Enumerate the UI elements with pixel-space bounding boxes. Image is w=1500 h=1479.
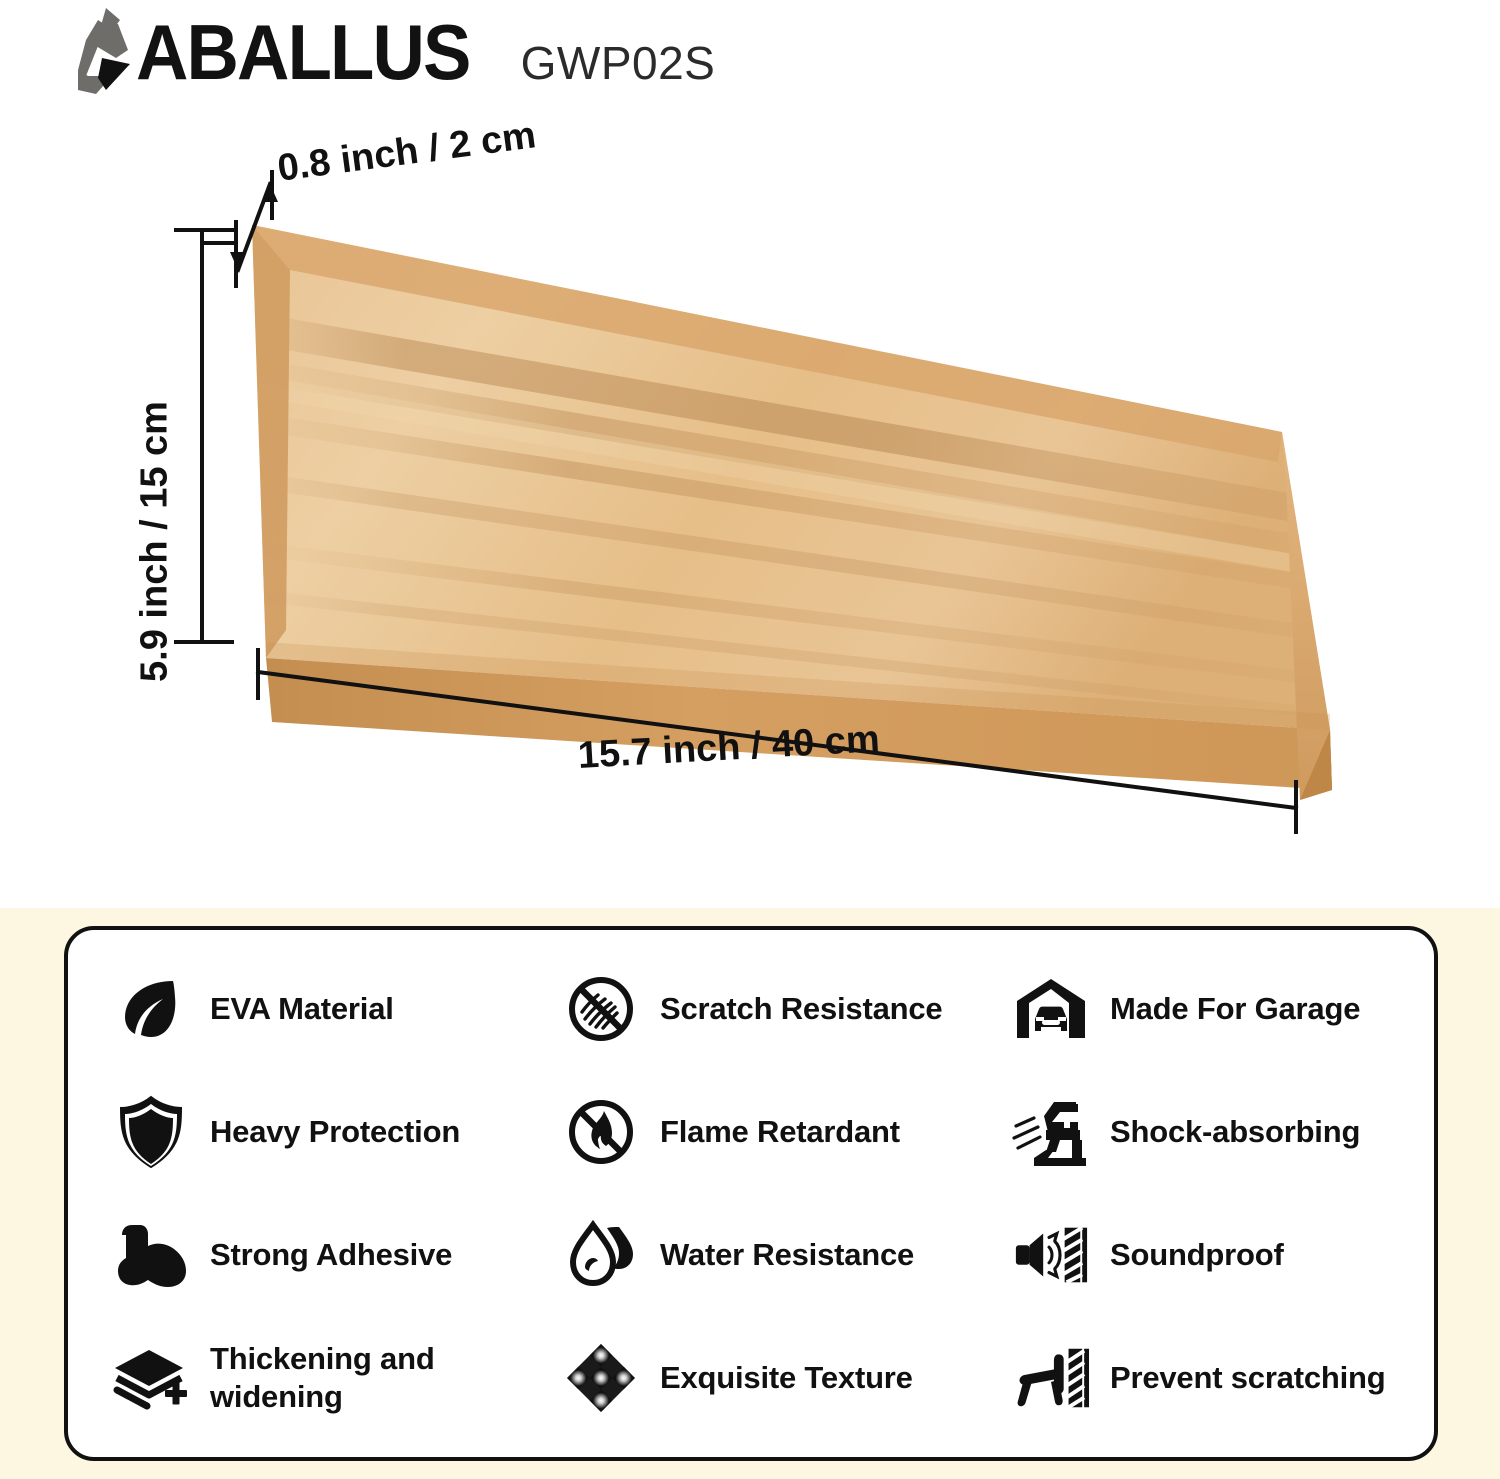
leaf-icon xyxy=(112,970,190,1048)
feature-label: Scratch Resistance xyxy=(660,990,942,1028)
feature-item-heavy-protection: Heavy Protection xyxy=(112,1071,562,1194)
feature-item-water-resistance: Water Resistance xyxy=(562,1194,1012,1317)
feature-label: Strong Adhesive xyxy=(210,1236,452,1274)
wooden-board-illustration xyxy=(0,110,1500,910)
feature-label: Thickening and widening xyxy=(210,1340,562,1416)
feature-label: Made For Garage xyxy=(1110,990,1360,1028)
feature-label: Shock-absorbing xyxy=(1110,1113,1360,1151)
speaker-wall-icon xyxy=(1012,1216,1090,1294)
feature-label: Water Resistance xyxy=(660,1236,914,1274)
chair-wall-icon xyxy=(1012,1339,1090,1417)
feature-item-strong-adhesive: Strong Adhesive xyxy=(112,1194,562,1317)
flexed-bicep-icon xyxy=(112,1216,190,1294)
horse-head-logo-icon xyxy=(72,6,134,98)
brand-header: ABALLUS GWP02S xyxy=(72,6,715,102)
feature-label: EVA Material xyxy=(210,990,394,1028)
features-card: EVA Material xyxy=(64,926,1438,1461)
feature-label: Flame Retardant xyxy=(660,1113,900,1151)
feature-item-soundproof: Soundproof xyxy=(1012,1194,1482,1317)
feature-label: Soundproof xyxy=(1110,1236,1284,1274)
feature-item-shock-absorbing: Shock-absorbing xyxy=(1012,1071,1482,1194)
no-flame-icon xyxy=(562,1093,640,1171)
feature-label: Heavy Protection xyxy=(210,1113,460,1151)
shield-icon xyxy=(112,1093,190,1171)
no-scratch-icon xyxy=(562,970,640,1048)
feature-label: Prevent scratching xyxy=(1110,1359,1386,1397)
diamond-texture-icon xyxy=(562,1339,640,1417)
dimension-label-height: 5.9 inch / 15 cm xyxy=(134,401,177,682)
car-impact-icon xyxy=(1012,1093,1090,1171)
brand-model-number: GWP02S xyxy=(521,17,716,109)
feature-item-made-for-garage: Made For Garage xyxy=(1012,948,1482,1071)
feature-item-thickening-widening: Thickening and widening xyxy=(112,1316,562,1439)
feature-item-prevent-scratching: Prevent scratching xyxy=(1012,1316,1482,1439)
garage-car-icon xyxy=(1012,970,1090,1048)
feature-item-eva-material: EVA Material xyxy=(112,948,562,1071)
feature-label: Exquisite Texture xyxy=(660,1359,913,1397)
feature-item-exquisite-texture: Exquisite Texture xyxy=(562,1316,1012,1439)
feature-item-flame-retardant: Flame Retardant xyxy=(562,1071,1012,1194)
product-infographic-page: ABALLUS GWP02S xyxy=(0,0,1500,1479)
brand-wordmark: ABALLUS xyxy=(136,6,470,98)
water-drops-icon xyxy=(562,1216,640,1294)
features-section: EVA Material xyxy=(0,908,1500,1479)
product-photo-area: 0.8 inch / 2 cm 5.9 inch / 15 cm 15.7 in… xyxy=(0,110,1500,910)
feature-item-scratch-resistance: Scratch Resistance xyxy=(562,948,1012,1071)
features-grid: EVA Material xyxy=(68,930,1434,1457)
layers-plus-icon xyxy=(112,1339,190,1417)
